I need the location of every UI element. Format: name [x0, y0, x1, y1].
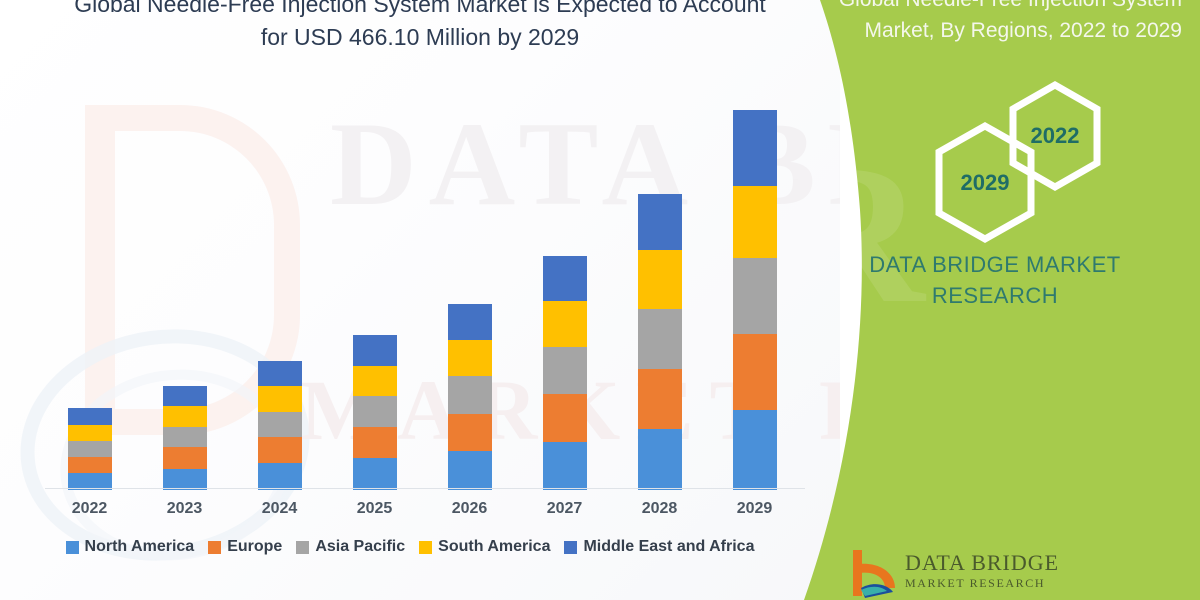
green-side-panel: R Global Needle-Free Injection System Ma… [790, 0, 1200, 600]
bar-group-2028[interactable] [638, 194, 682, 490]
bar-segment[interactable] [733, 186, 777, 258]
chart-legend: North AmericaEuropeAsia PacificSouth Ame… [0, 538, 820, 556]
green-panel-title: Global Needle-Free Injection System Mark… [820, 0, 1190, 46]
brand-name-line-2: RESEARCH [790, 283, 1200, 309]
bar-segment[interactable] [163, 386, 207, 406]
bar-segment[interactable] [353, 396, 397, 427]
legend-item[interactable]: Middle East and Africa [564, 538, 754, 556]
x-axis-label-2025: 2025 [345, 500, 405, 518]
legend-item[interactable]: Europe [208, 538, 282, 556]
bar-segment[interactable] [258, 386, 302, 412]
legend-label: Asia Pacific [315, 538, 405, 556]
bar-segment[interactable] [543, 394, 587, 441]
bar-segment[interactable] [448, 376, 492, 414]
legend-item[interactable]: South America [419, 538, 550, 556]
bar-segment[interactable] [638, 250, 682, 309]
logo-subtitle: MARKET RESEARCH [905, 576, 1045, 591]
bar-segment[interactable] [258, 437, 302, 463]
bar-segment[interactable] [448, 304, 492, 339]
bar-segment[interactable] [638, 309, 682, 369]
bar-segment[interactable] [638, 429, 682, 490]
bar-segment[interactable] [68, 408, 112, 424]
bar-segment[interactable] [258, 412, 302, 438]
x-axis-label-2027: 2027 [535, 500, 595, 518]
company-logo: DATA BRIDGE MARKET RESEARCH [845, 548, 1185, 600]
bar-segment[interactable] [733, 410, 777, 491]
x-axis-label-2026: 2026 [440, 500, 500, 518]
bar-segment[interactable] [353, 458, 397, 490]
x-axis-label-2029: 2029 [725, 500, 785, 518]
logo-name: DATA BRIDGE [905, 550, 1059, 576]
legend-swatch-icon [296, 541, 309, 554]
legend-swatch-icon [66, 541, 79, 554]
hexagon-year-start: 2022 [1005, 80, 1105, 192]
bar-segment[interactable] [638, 369, 682, 429]
axis-baseline [45, 488, 805, 489]
bar-group-2026[interactable] [448, 304, 492, 490]
x-axis-label-2024: 2024 [250, 500, 310, 518]
bar-group-2029[interactable] [733, 110, 777, 490]
x-axis-label-2022: 2022 [60, 500, 120, 518]
hexagon-start-label: 2022 [1005, 123, 1105, 149]
legend-swatch-icon [208, 541, 221, 554]
bar-segment[interactable] [353, 427, 397, 458]
bar-segment[interactable] [163, 447, 207, 468]
bar-segment[interactable] [448, 414, 492, 452]
bar-segment[interactable] [543, 347, 587, 394]
bar-segment[interactable] [163, 406, 207, 426]
bar-group-2025[interactable] [353, 335, 397, 490]
x-axis-label-2023: 2023 [155, 500, 215, 518]
bar-segment[interactable] [68, 425, 112, 441]
legend-item[interactable]: North America [66, 538, 195, 556]
bar-segment[interactable] [353, 335, 397, 365]
bar-segment[interactable] [448, 340, 492, 376]
bar-segment[interactable] [638, 194, 682, 250]
bar-segment[interactable] [353, 366, 397, 396]
chart-title: Global Needle-Free Injection System Mark… [60, 0, 780, 54]
legend-label: Middle East and Africa [583, 538, 754, 556]
bar-segment[interactable] [733, 334, 777, 409]
legend-label: North America [85, 538, 195, 556]
legend-label: Europe [227, 538, 282, 556]
legend-swatch-icon [564, 541, 577, 554]
bar-segment[interactable] [163, 427, 207, 447]
brand-name-line-1: DATA BRIDGE MARKET [790, 252, 1200, 278]
legend-label: South America [438, 538, 550, 556]
bar-segment[interactable] [543, 301, 587, 347]
bar-group-2024[interactable] [258, 361, 302, 490]
bar-group-2027[interactable] [543, 256, 587, 490]
bar-segment[interactable] [163, 469, 207, 490]
green-watermark-letters: R [790, 120, 924, 349]
x-axis: 20222023202420252026202720282029 [45, 496, 805, 524]
bar-segment[interactable] [448, 451, 492, 490]
bar-segment[interactable] [68, 457, 112, 473]
bar-segment[interactable] [733, 258, 777, 334]
x-axis-label-2028: 2028 [630, 500, 690, 518]
bar-segment[interactable] [543, 256, 587, 301]
bar-segment[interactable] [258, 361, 302, 386]
legend-item[interactable]: Asia Pacific [296, 538, 405, 556]
bar-group-2023[interactable] [163, 386, 207, 490]
bar-segment[interactable] [258, 463, 302, 490]
bar-segment[interactable] [68, 441, 112, 457]
bar-segment[interactable] [543, 442, 587, 490]
bar-segment[interactable] [733, 110, 777, 186]
plot-area [45, 110, 805, 490]
bar-group-2022[interactable] [68, 408, 112, 490]
logo-b-mark-icon [845, 548, 901, 600]
legend-swatch-icon [419, 541, 432, 554]
chart-panel: DATA BRIDGE MARKET RESEARCH Global Needl… [0, 0, 840, 600]
